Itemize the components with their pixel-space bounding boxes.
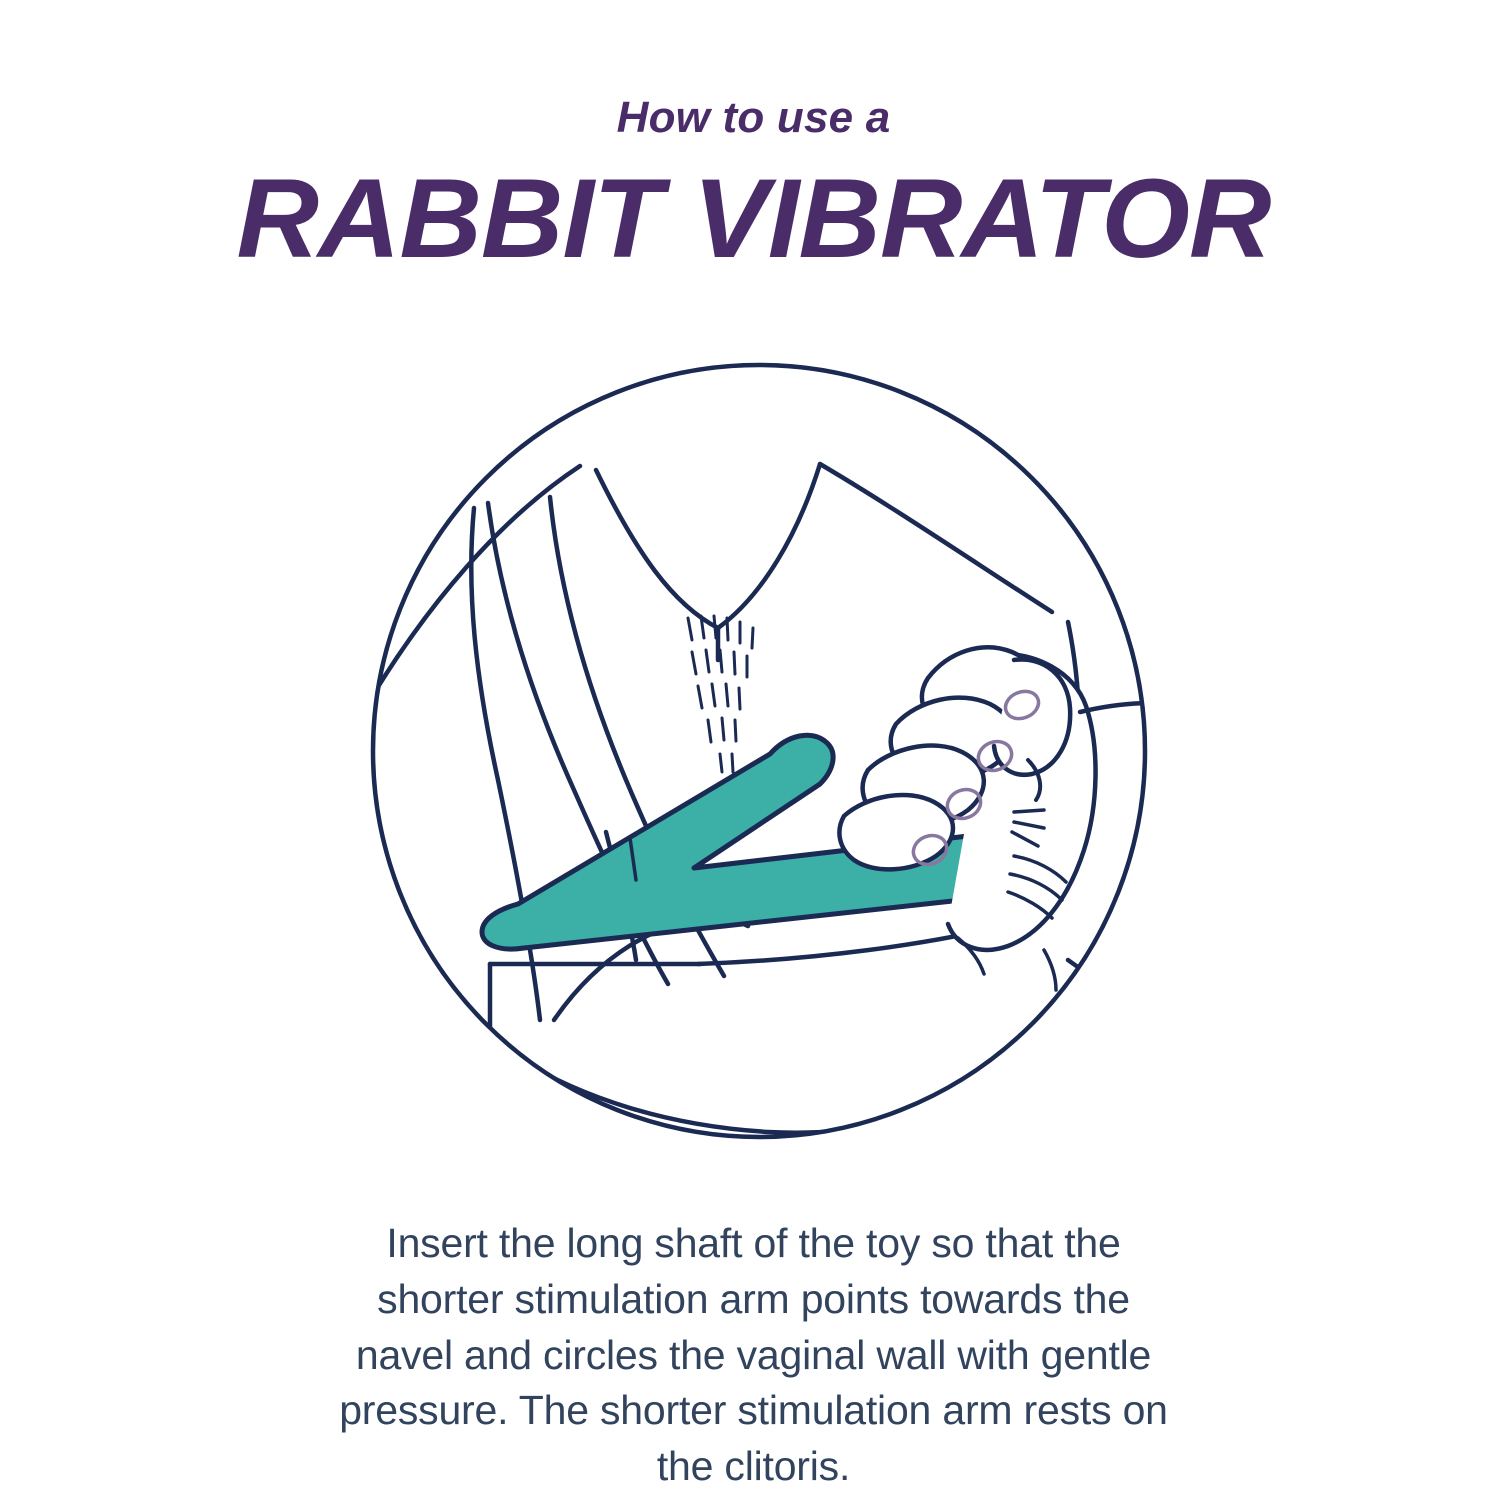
header: How to use a RABBIT VIBRATOR [0, 96, 1507, 278]
illustration-svg [368, 360, 1150, 1142]
caption-text: Insert the long shaft of the toy so that… [339, 1216, 1169, 1495]
infographic-page: How to use a RABBIT VIBRATOR [0, 0, 1507, 1507]
hand-finger-pinky [839, 795, 953, 869]
page-title: RABBIT VIBRATOR [0, 160, 1507, 278]
skin-crease-tick [1080, 1050, 1104, 1120]
kicker-text: How to use a [0, 96, 1507, 140]
illustration [368, 360, 1150, 1142]
